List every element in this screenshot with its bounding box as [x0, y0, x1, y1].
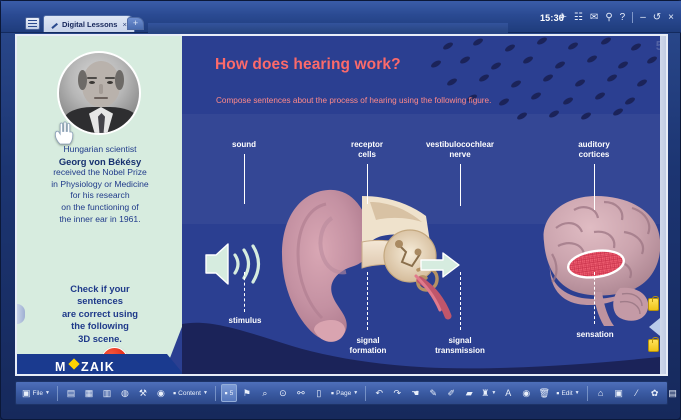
tools-icon: ⚒ [139, 388, 147, 399]
highlighter-icon: ✎ [429, 388, 437, 399]
media-icon: ◍ [121, 388, 129, 399]
trash-icon: 🗑 [539, 388, 550, 399]
title-bar: Digital Lessons × + 15:36 ✈ ☷ ✉ ⚲ ? – ↺ … [1, 1, 681, 33]
leader-line-top-2 [460, 164, 461, 206]
toolbar-zoom-out-button[interactable]: ⊙ [275, 384, 291, 402]
toolbar-tools-button[interactable]: ⚒ [135, 384, 151, 402]
diagram-label-bottom-2: signal transmission [412, 336, 508, 356]
library-icon: ▦ [85, 388, 94, 399]
toolbar-content-button[interactable]: ▪Content▼ [171, 384, 210, 402]
screen-icon: ▣ [22, 388, 31, 399]
leader-line-bottom-3 [594, 272, 595, 324]
minimize-button[interactable]: – [640, 12, 646, 23]
undo-icon: ↶ [375, 388, 383, 399]
decorative-dots [430, 36, 668, 124]
zoom-out-icon: ⊙ [279, 388, 287, 399]
toolbar-pointer-hand-button[interactable]: ☚ [407, 384, 423, 402]
gear-icon: ✿ [651, 388, 659, 399]
pen-icon: ✐ [447, 388, 455, 399]
brand-bar: M ZAIK [17, 346, 192, 376]
chevron-down-icon: ▼ [203, 390, 208, 396]
bio-line-5: on the functioning of [61, 202, 138, 212]
restore-button[interactable]: ↺ [653, 12, 661, 23]
bio-line-2: received the Nobel Prize [53, 167, 147, 177]
toolbar-label: File [33, 390, 43, 397]
link-icon: ⚯ [297, 388, 305, 399]
toolbar-zoom-button[interactable]: ⌕ [257, 384, 273, 402]
toolbar-divider [587, 386, 588, 401]
toolbar-items: ▣File▼▤▦▥◍⚒◉▪Content▼▪5⚑⌕⊙⚯▯▪Page▼↶↷☚✎✐▰… [20, 384, 681, 402]
page-number-icon: ▪ [224, 388, 227, 398]
diagram-label-bottom-3: sensation [557, 330, 633, 340]
tab-label: Digital Lessons [62, 20, 117, 29]
diagram-label-top-1: receptor cells [332, 140, 402, 160]
redo-icon: ↷ [393, 388, 401, 399]
home-icon: ⌂ [598, 388, 603, 398]
grid-icon[interactable]: ☷ [574, 12, 583, 23]
leader-line-bottom-2 [460, 272, 461, 330]
help-icon[interactable]: ? [620, 12, 626, 23]
toolbar-edit-button[interactable]: ▪Edit▼ [554, 384, 581, 402]
edit-icon: ▪ [556, 388, 559, 398]
brain-anatomy [524, 188, 668, 328]
toolbar-label: 5 [230, 390, 234, 397]
board-icon: ▤ [668, 388, 677, 399]
speaker-icon [202, 241, 268, 287]
titlebar-icons: ✈ ☷ ✉ ⚲ ? – ↺ × [559, 12, 674, 23]
chevron-down-icon: ▼ [353, 390, 358, 396]
toolbar-trash-button[interactable]: 🗑 [536, 384, 552, 402]
page-subtitle: Compose sentences about the process of h… [216, 96, 491, 105]
application-window: Digital Lessons × + 15:36 ✈ ☷ ✉ ⚲ ? – ↺ … [0, 0, 681, 420]
toolbar-media-button[interactable]: ◍ [117, 384, 133, 402]
toolbar-stamp-button[interactable]: ◉ [518, 384, 534, 402]
toolbar-home-button[interactable]: ⌂ [593, 384, 609, 402]
arrow-right-icon [419, 251, 461, 279]
toolbar-label: Page [336, 390, 351, 397]
new-tab-button[interactable]: + [127, 17, 144, 30]
toolbar-divider [215, 386, 216, 401]
camera-icon: ▣ [614, 388, 623, 399]
diagram-label-bottom-0: stimulus [214, 316, 276, 326]
content-icon: ▪ [173, 388, 176, 398]
bookmark-icon: ⚑ [243, 388, 251, 399]
lock-icon-top[interactable] [648, 298, 659, 311]
toolbar-eraser-button[interactable]: ▰ [461, 384, 477, 402]
divider [632, 12, 633, 23]
info-panel: Hungarian scientist Georg von Békésy rec… [17, 36, 182, 376]
collapse-arrow-icon[interactable] [649, 318, 660, 336]
toolbar-link-button[interactable]: ⚯ [293, 384, 309, 402]
scientist-name: Georg von Békésy [25, 156, 175, 168]
mail-icon[interactable]: ✉ [590, 12, 598, 23]
diagram-label-top-3: auditory cortices [554, 140, 634, 160]
diagram-label-bottom-1: signal formation [332, 336, 404, 356]
toolbar-board-button[interactable]: ▤ [665, 384, 681, 402]
search-icon[interactable]: ⚲ [605, 12, 612, 23]
bio-line-6: the inner ear in 1961. [59, 214, 140, 224]
toolbar-label: Content [178, 390, 201, 397]
lock-icon-bottom[interactable] [648, 339, 659, 352]
pencil-icon [50, 20, 58, 28]
toolbar-camera-button[interactable]: ▣ [611, 384, 627, 402]
page-title: How does hearing work? [215, 56, 401, 74]
measure-icon: ⁄ [636, 388, 638, 398]
leader-line-top-0 [244, 154, 245, 204]
toolbar-redo-button[interactable]: ↷ [389, 384, 405, 402]
bottom-toolbar: ▣File▼▤▦▥◍⚒◉▪Content▼▪5⚑⌕⊙⚯▯▪Page▼↶↷☚✎✐▰… [15, 381, 668, 405]
bio-line-1: Hungarian scientist [63, 144, 136, 154]
scientist-bio: Hungarian scientist Georg von Békésy rec… [25, 144, 175, 225]
text-icon: A [505, 388, 511, 398]
svg-text:ZAIK: ZAIK [81, 360, 115, 374]
toolbar-page-number-button[interactable]: ▪5 [221, 384, 237, 402]
leader-line-top-3 [594, 164, 595, 210]
chevron-down-icon: ▼ [575, 390, 580, 396]
check-instruction: Check if your sentences are correct usin… [27, 283, 173, 345]
toolbar-page-button[interactable]: ▪Page▼ [329, 384, 360, 402]
pointer-hand-icon [53, 120, 75, 146]
toolbar-label: Edit [561, 390, 572, 397]
eraser-icon: ▰ [466, 388, 473, 399]
plane-icon[interactable]: ✈ [559, 12, 567, 23]
tablet-icon: ▯ [316, 388, 321, 399]
close-button[interactable]: × [668, 12, 674, 23]
lesson-stage: Hungarian scientist Georg von Békésy rec… [15, 34, 668, 376]
toolbar-text-button[interactable]: A [500, 384, 516, 402]
toolbar-notebook-button[interactable]: ▥ [99, 384, 115, 402]
page-icon: ▪ [331, 388, 334, 398]
diagram-label-top-2: vestibulocochlear nerve [400, 140, 520, 160]
toolbar-divider [57, 386, 58, 401]
bio-line-4: for his research [70, 190, 129, 200]
toolbar-library-button[interactable]: ▦ [81, 384, 97, 402]
toolbar-brush-button[interactable]: ♜▼ [479, 384, 498, 402]
tab-digital-lessons[interactable]: Digital Lessons × [43, 15, 135, 32]
toolbar-screen-button[interactable]: ▣File▼ [20, 384, 52, 402]
toolbar-book-open-button[interactable]: ▤ [63, 384, 79, 402]
hamburger-icon[interactable] [25, 17, 40, 30]
right-edge-panel[interactable] [660, 36, 668, 376]
toolbar-bookmark-button[interactable]: ⚑ [239, 384, 255, 402]
toolbar-bulb-button[interactable]: ◉ [153, 384, 169, 402]
zoom-icon: ⌕ [262, 388, 267, 399]
bulb-icon: ◉ [157, 388, 165, 399]
pointer-hand-icon: ☚ [411, 388, 419, 399]
leader-line-bottom-1 [367, 272, 368, 330]
brush-icon: ♜ [481, 388, 489, 399]
bio-line-3: in Physiology or Medicine [51, 179, 148, 189]
notebook-icon: ▥ [103, 388, 112, 399]
tab-strip [148, 23, 508, 33]
stamp-icon: ◉ [522, 388, 530, 399]
chevron-down-icon: ▼ [491, 390, 496, 396]
toolbar-measure-button[interactable]: ⁄ [629, 384, 645, 402]
toolbar-gear-button[interactable]: ✿ [647, 384, 663, 402]
toolbar-tablet-button[interactable]: ▯ [311, 384, 327, 402]
leader-line-top-1 [367, 164, 368, 204]
diagram-label-top-0: sound [214, 140, 274, 150]
book-open-icon: ▤ [67, 388, 76, 399]
toolbar-undo-button[interactable]: ↶ [371, 384, 387, 402]
leader-line-bottom-0 [244, 272, 245, 312]
toolbar-divider [365, 386, 366, 401]
toolbar-pen-button[interactable]: ✐ [443, 384, 459, 402]
svg-text:M: M [55, 360, 67, 374]
slide-canvas: 5 How does hearing work? Compose sentenc… [182, 36, 668, 376]
chevron-down-icon: ▼ [45, 390, 50, 396]
toolbar-highlighter-button[interactable]: ✎ [425, 384, 441, 402]
